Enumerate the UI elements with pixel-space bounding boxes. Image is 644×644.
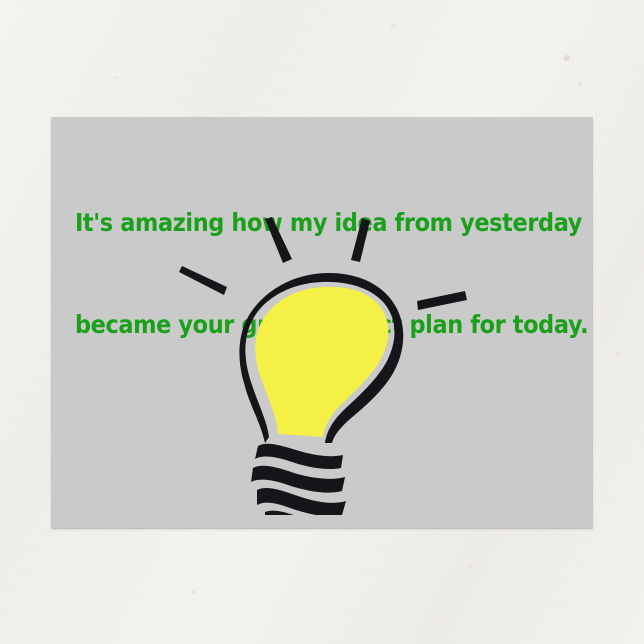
light-bulb-illustration bbox=[170, 215, 482, 515]
ray-right-inner bbox=[351, 218, 370, 262]
ray-left-inner bbox=[265, 217, 292, 263]
bulb-screw-base bbox=[251, 444, 348, 515]
screenshot-canvas: It's amazing how my idea from yesterday … bbox=[0, 0, 644, 644]
ray-right-outer bbox=[417, 291, 467, 310]
postcard[interactable]: It's amazing how my idea from yesterday … bbox=[52, 118, 592, 528]
ray-left-outer bbox=[179, 266, 227, 295]
bulb-globe-fill bbox=[255, 287, 388, 437]
screw-band-1 bbox=[255, 444, 343, 469]
